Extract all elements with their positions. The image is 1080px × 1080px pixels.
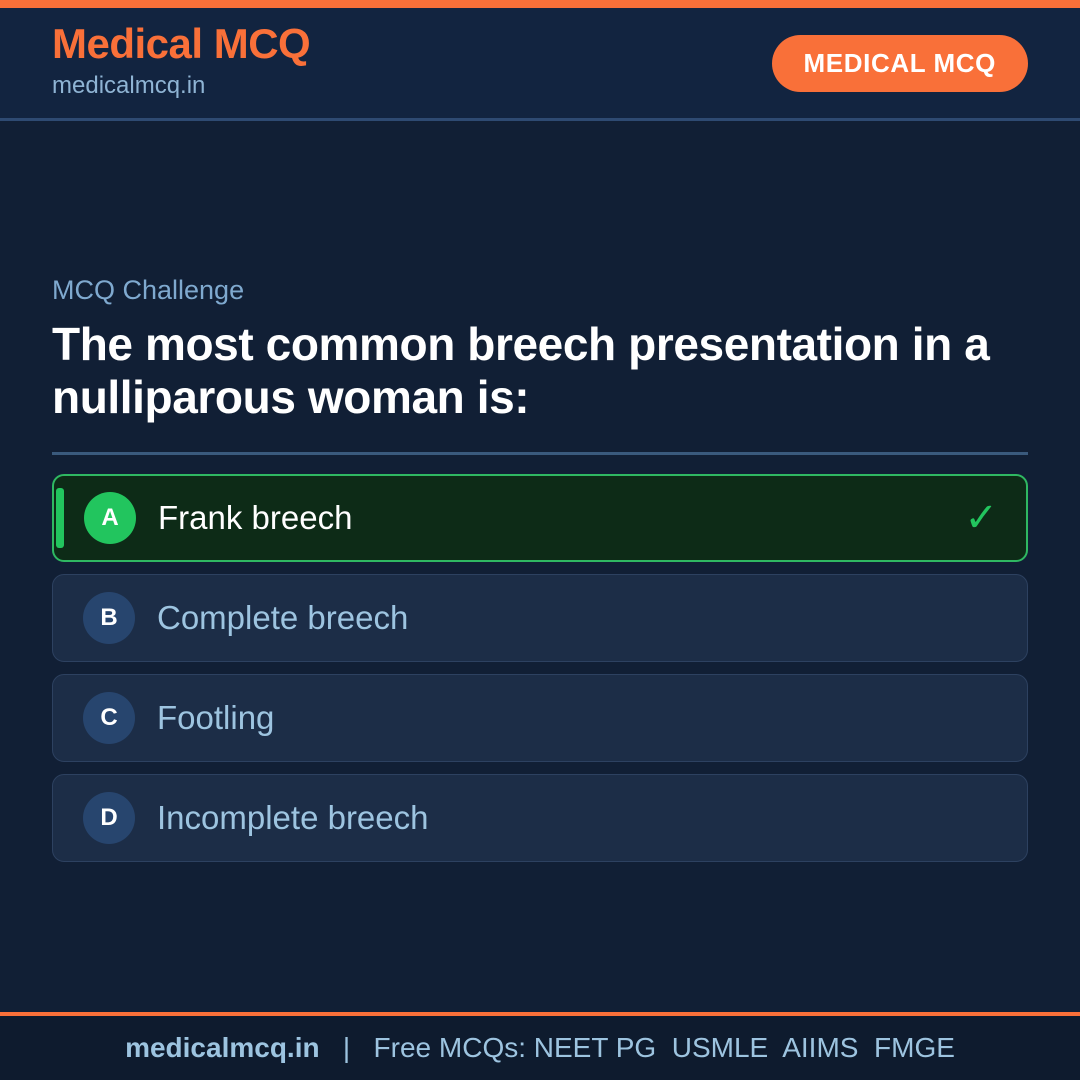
header-badge: MEDICAL MCQ xyxy=(772,35,1028,92)
option-c-label: Footling xyxy=(157,700,999,736)
section-divider xyxy=(52,452,1028,455)
option-b[interactable]: B Complete breech xyxy=(52,574,1028,662)
option-c[interactable]: C Footling xyxy=(52,674,1028,762)
option-d-label: Incomplete breech xyxy=(157,800,999,836)
option-d[interactable]: D Incomplete breech xyxy=(52,774,1028,862)
page-footer: medicalmcq.in | Free MCQs: NEET PG USMLE… xyxy=(0,1012,1080,1080)
brand-subtitle: medicalmcq.in xyxy=(52,68,310,104)
footer-brand: medicalmcq.in xyxy=(125,1032,320,1064)
options-list: A Frank breech ✓ B Complete breech C Foo… xyxy=(52,474,1028,862)
main-content: MCQ Challenge The most common breech pre… xyxy=(0,124,1080,1012)
check-icon: ✓ xyxy=(964,498,998,538)
option-b-label: Complete breech xyxy=(157,600,999,636)
option-a[interactable]: A Frank breech ✓ xyxy=(52,474,1028,562)
option-c-badge: C xyxy=(83,692,135,744)
question-text: The most common breech presentation in a… xyxy=(52,318,1028,424)
brand-title: Medical MCQ xyxy=(52,22,310,66)
option-d-badge: D xyxy=(83,792,135,844)
footer-tagline: Free MCQs: NEET PG USMLE AIIMS FMGE xyxy=(374,1032,955,1064)
option-a-label: Frank breech xyxy=(158,500,964,536)
footer-separator: | xyxy=(320,1032,374,1064)
kicker-label: MCQ Challenge xyxy=(52,274,1028,306)
top-accent-bar xyxy=(0,0,1080,8)
option-b-badge: B xyxy=(83,592,135,644)
option-a-badge: A xyxy=(84,492,136,544)
page-header: Medical MCQ medicalmcq.in MEDICAL MCQ xyxy=(0,8,1080,121)
brand-block: Medical MCQ medicalmcq.in xyxy=(52,22,310,104)
